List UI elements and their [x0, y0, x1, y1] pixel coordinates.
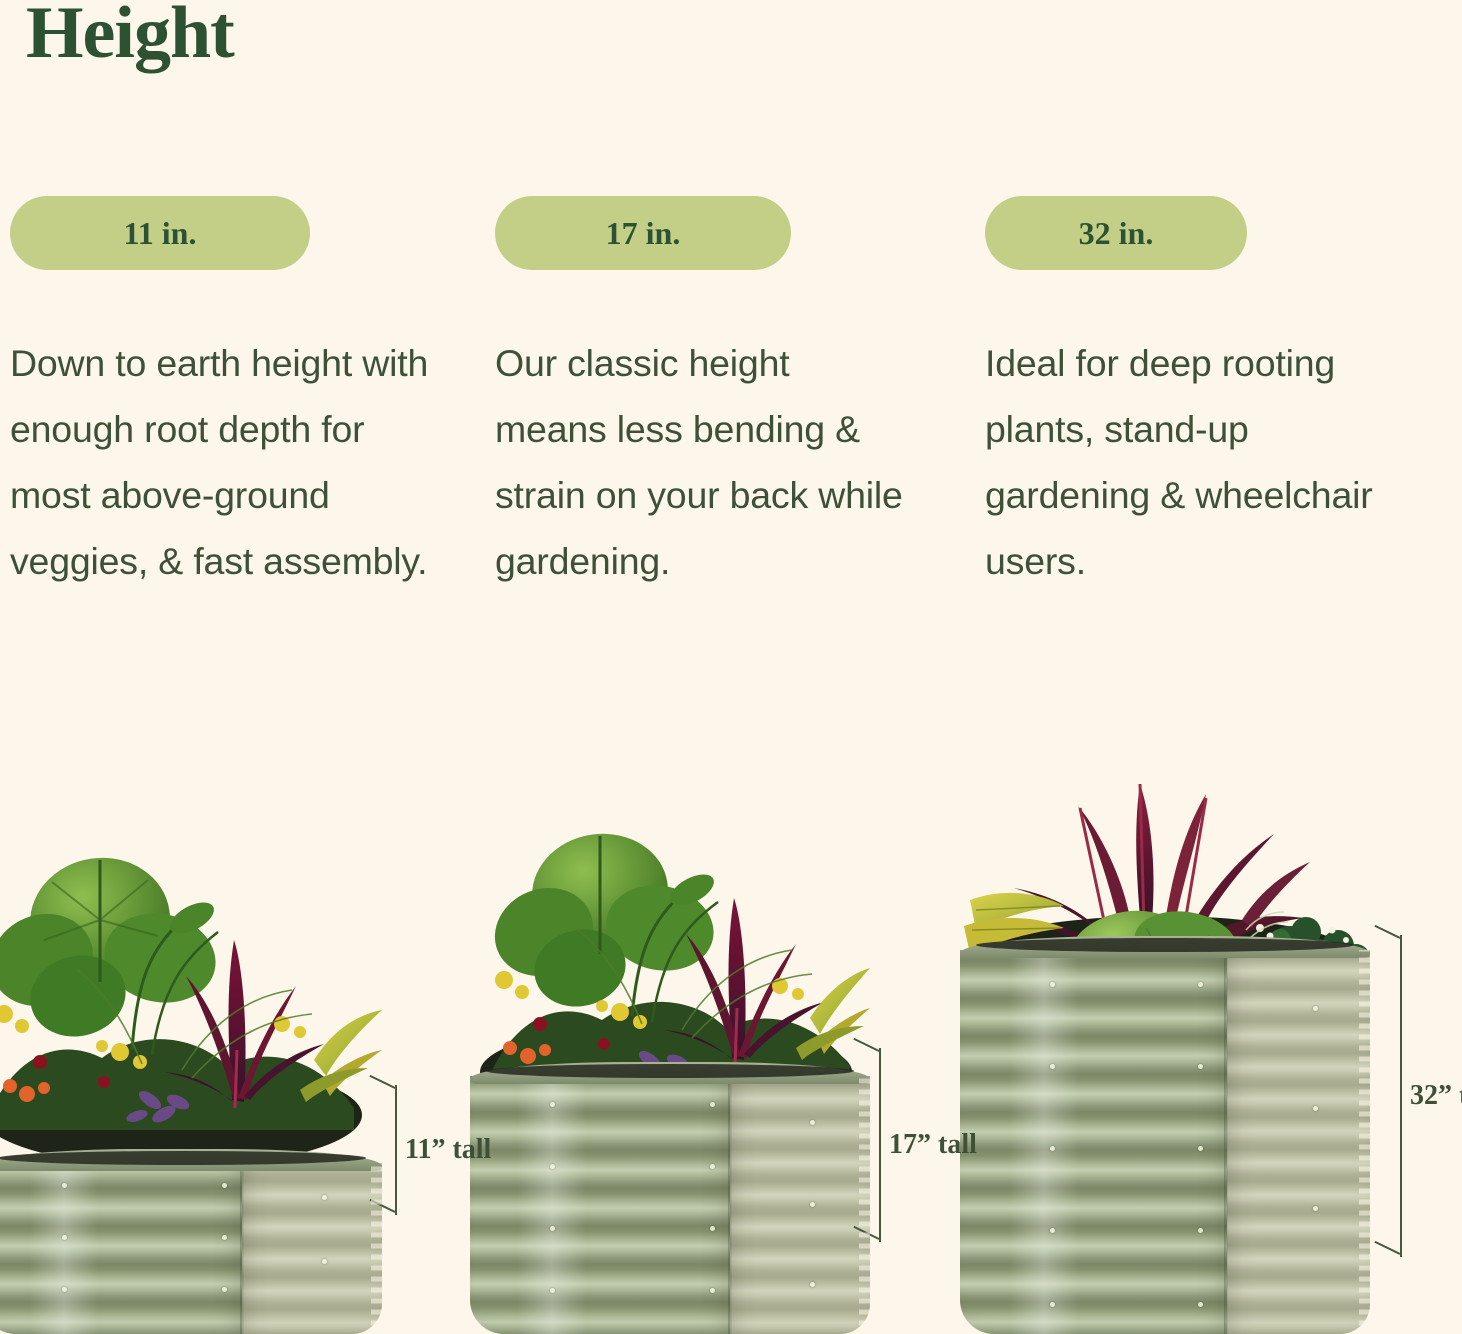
planter-box-32in — [960, 936, 1370, 1334]
planter-image-11in — [0, 800, 382, 1334]
planter-scalloped-edge — [371, 1163, 382, 1334]
planter-box-17in — [470, 1062, 870, 1334]
planter-rivets — [960, 936, 1370, 1334]
dimension-line — [879, 1048, 881, 1242]
dimension-line — [395, 1085, 397, 1215]
dimension-cap-bottom — [1374, 1241, 1400, 1255]
planter-rivets — [0, 1149, 382, 1334]
dimension-annotation-32in: 32” tall — [1399, 935, 1401, 1257]
planter-soil-line — [486, 1064, 854, 1078]
dimension-cap-top — [1374, 925, 1400, 939]
planter-illustrations: 11” tall 17” tall 32” tall — [0, 0, 1462, 1334]
dimension-line — [1400, 935, 1402, 1257]
dimension-label-32in: 32” tall — [1410, 1080, 1462, 1112]
planter-rivets — [470, 1062, 870, 1334]
dimension-annotation-11in: 11” tall — [394, 1085, 396, 1215]
planter-soil-line — [0, 1151, 366, 1165]
planter-image-32in — [960, 750, 1370, 1334]
planter-box-11in — [0, 1149, 382, 1334]
planter-scalloped-edge — [1359, 950, 1370, 1334]
dimension-annotation-17in: 17” tall — [878, 1048, 880, 1242]
planter-scalloped-edge — [859, 1076, 870, 1334]
planter-image-17in — [470, 800, 870, 1334]
planter-soil-line — [976, 938, 1353, 952]
